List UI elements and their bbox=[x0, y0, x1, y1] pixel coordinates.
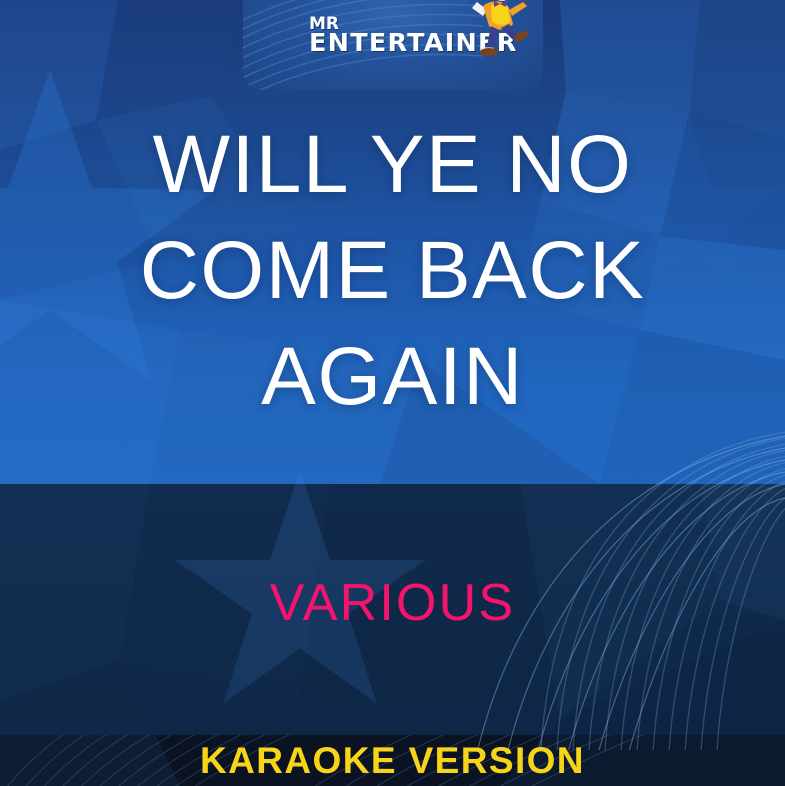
artist-name: VARIOUS bbox=[0, 572, 785, 634]
song-title: WILL YE NO COME BACK AGAIN bbox=[0, 112, 785, 430]
entertainer-mascot-icon bbox=[439, 0, 543, 68]
footer-bar: KARAOKE VERSION bbox=[0, 735, 785, 786]
title-line-3: AGAIN bbox=[0, 324, 785, 430]
karaoke-version-label: KARAOKE VERSION bbox=[200, 741, 585, 781]
sparkle-icon bbox=[452, 0, 480, 1]
title-line-1: WILL YE NO bbox=[0, 112, 785, 218]
brand-logo[interactable]: MR ENTERTAINER bbox=[243, 0, 543, 90]
title-line-2: COME BACK bbox=[0, 218, 785, 324]
album-cover: MR ENTERTAINER bbox=[0, 0, 785, 786]
